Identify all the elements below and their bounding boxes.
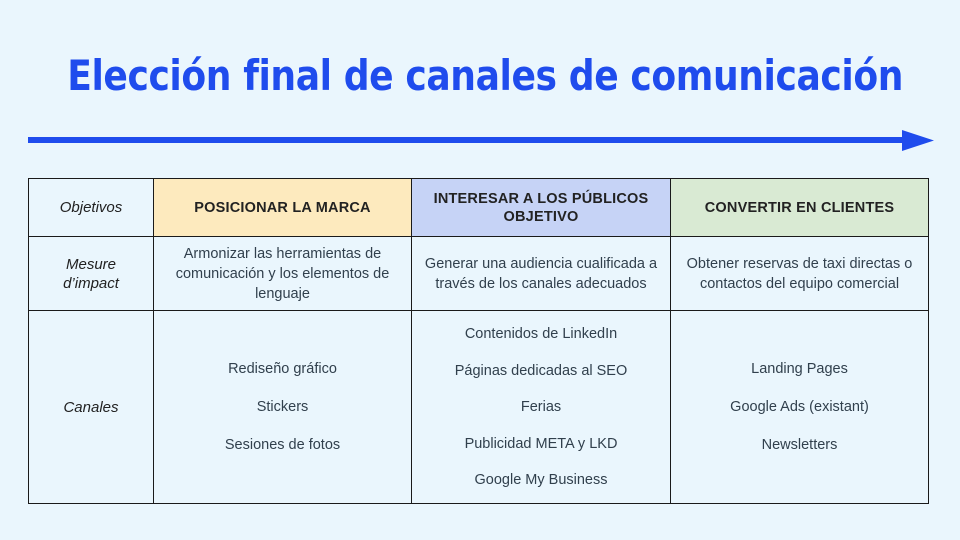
list-item: Google My Business xyxy=(420,470,662,490)
table-row-headers: Objetivos POSICIONAR LA MARCA INTERESAR … xyxy=(29,179,929,237)
measure-posicionar: Armonizar las herramientas de comunicaci… xyxy=(154,237,412,311)
page-title: Elección final de canales de comunicació… xyxy=(67,50,893,102)
channels-convertir: Landing Pages Google Ads (existant) News… xyxy=(671,311,929,504)
row-label-objetivos: Objetivos xyxy=(29,179,154,237)
measure-convertir: Obtener reservas de taxi directas o cont… xyxy=(671,237,929,311)
header-posicionar-la-marca: POSICIONAR LA MARCA xyxy=(154,179,412,237)
channels-table: Objetivos POSICIONAR LA MARCA INTERESAR … xyxy=(28,178,929,504)
header-convertir-en-clientes: CONVERTIR EN CLIENTES xyxy=(671,179,929,237)
list-item: Contenidos de LinkedIn xyxy=(420,324,662,344)
measure-interesar: Generar una audiencia cualificada a trav… xyxy=(412,237,671,311)
list-item: Rediseño gráfico xyxy=(162,350,403,388)
header-interesar-publicos-objetivo: INTERESAR A LOS PÚBLICOS OBJETIVO xyxy=(412,179,671,237)
channels-interesar: Contenidos de LinkedIn Páginas dedicadas… xyxy=(412,311,671,504)
list-item: Ferias xyxy=(420,397,662,417)
table-row-mesure-impact: Mesure d’impact Armonizar las herramient… xyxy=(29,237,929,311)
list-item: Google Ads (existant) xyxy=(679,388,920,426)
list-item: Páginas dedicadas al SEO xyxy=(420,361,662,381)
table-row-canales: Canales Rediseño gráfico Stickers Sesion… xyxy=(29,311,929,504)
row-label-canales: Canales xyxy=(29,311,154,504)
divider-arrow xyxy=(28,128,934,154)
arrow-icon xyxy=(28,130,934,151)
list-item: Publicidad META y LKD xyxy=(420,434,662,454)
row-label-mesure-impact: Mesure d’impact xyxy=(29,237,154,311)
list-item: Stickers xyxy=(162,388,403,426)
list-item: Landing Pages xyxy=(679,350,920,388)
slide-canvas: Elección final de canales de comunicació… xyxy=(0,0,960,540)
list-item: Sesiones de fotos xyxy=(162,426,403,464)
list-item: Newsletters xyxy=(679,426,920,464)
channels-posicionar: Rediseño gráfico Stickers Sesiones de fo… xyxy=(154,311,412,504)
